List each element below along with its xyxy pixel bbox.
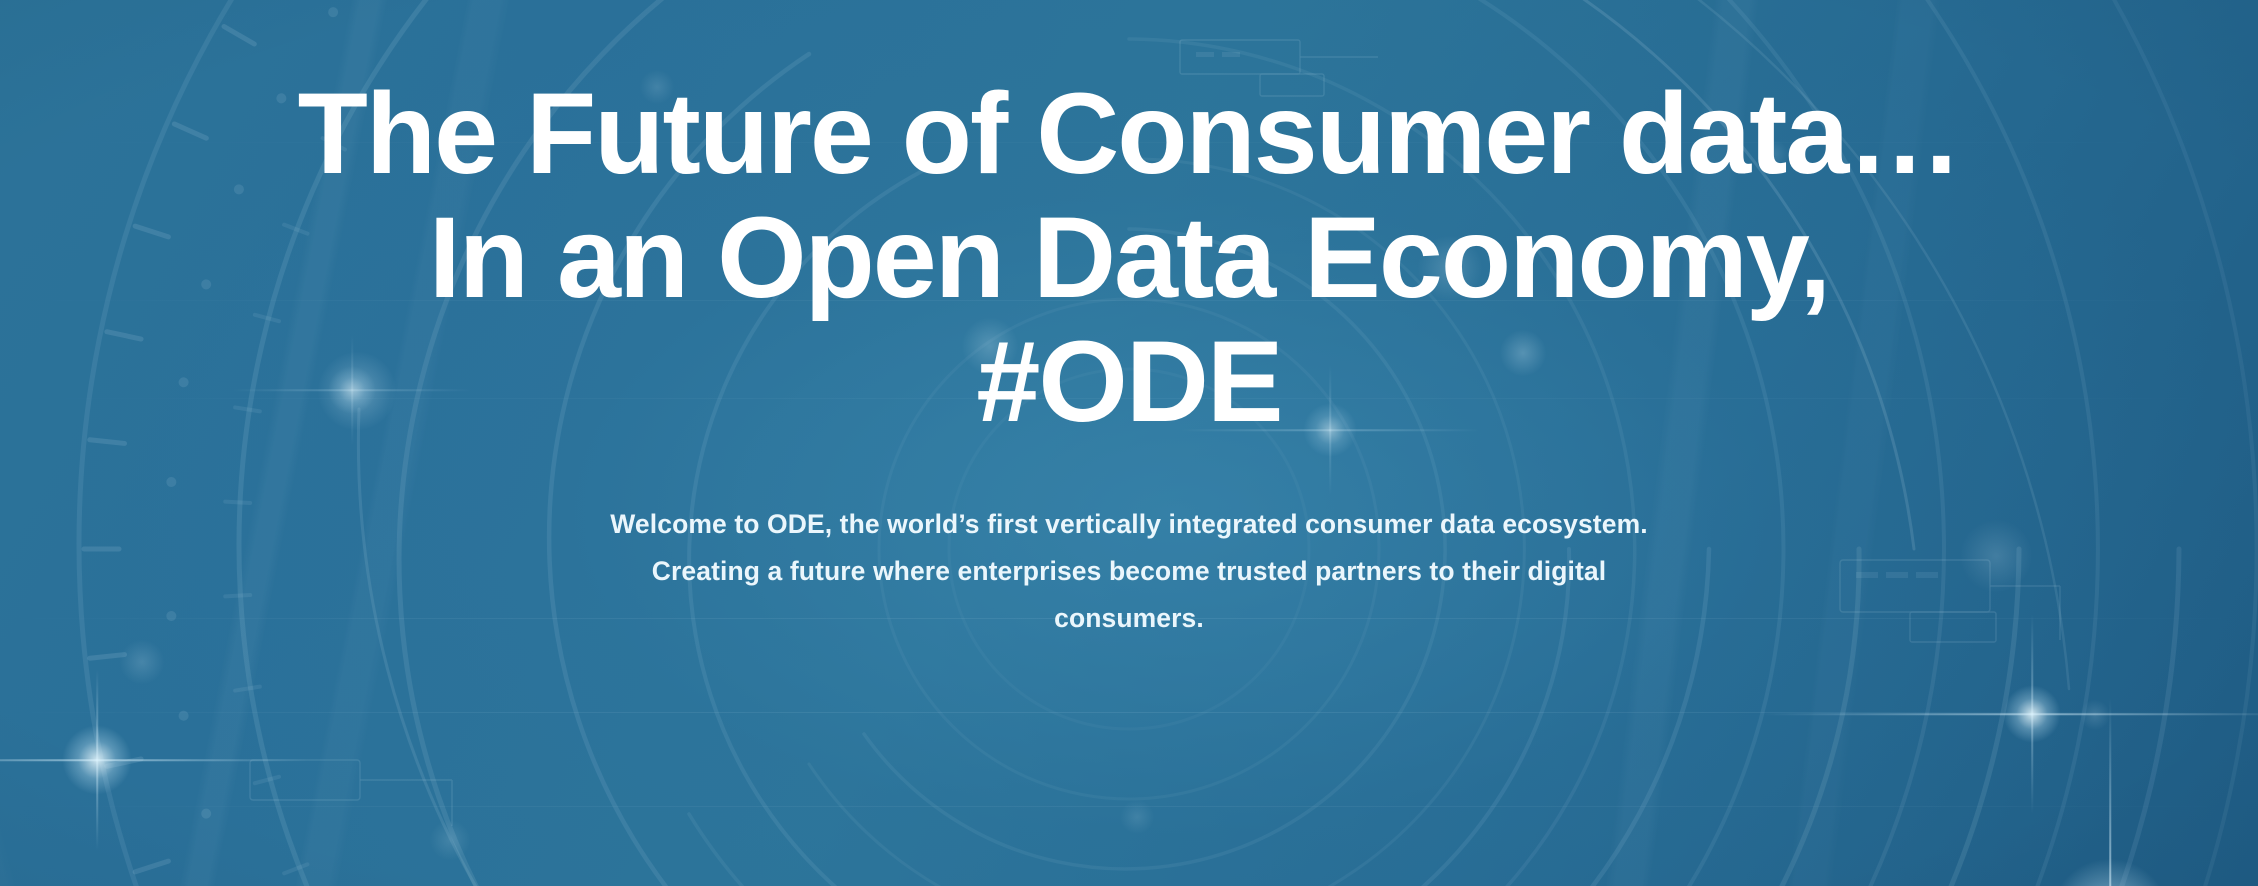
hero-headline-line-2: In an Open Data Economy, <box>44 196 2214 320</box>
hero-banner: The Future of Consumer data… In an Open … <box>0 0 2258 886</box>
hero-headline-line-3: #ODE <box>44 320 2214 444</box>
hero-subcopy-line-1: Welcome to ODE, the world’s first vertic… <box>539 501 1719 548</box>
hero-subcopy: Welcome to ODE, the world’s first vertic… <box>539 501 1719 642</box>
hero-headline-line-1: The Future of Consumer data… <box>44 72 2214 196</box>
hero-content: The Future of Consumer data… In an Open … <box>0 0 2258 886</box>
hero-subcopy-line-3: consumers. <box>539 595 1719 642</box>
hero-headline: The Future of Consumer data… In an Open … <box>44 72 2214 445</box>
hero-subcopy-line-2: Creating a future where enterprises beco… <box>539 548 1719 595</box>
